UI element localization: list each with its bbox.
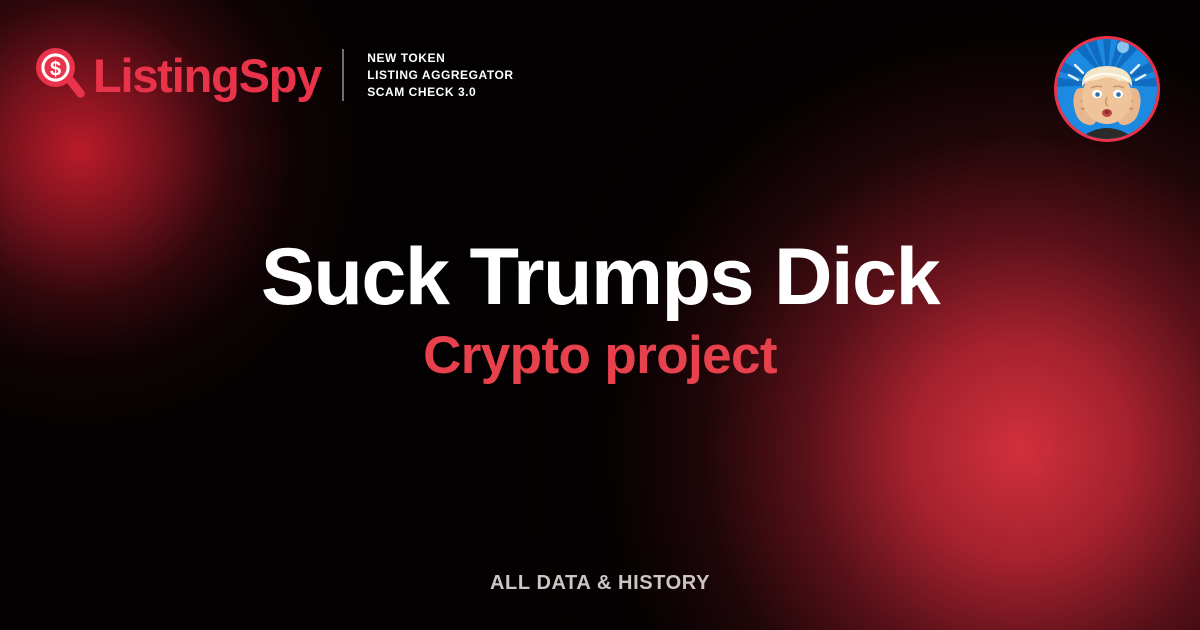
hero-section: Suck Trumps Dick Crypto project bbox=[0, 236, 1200, 384]
brand-logo[interactable]: $ ListingSpy bbox=[36, 48, 321, 102]
tagline-line-3: SCAM CHECK 3.0 bbox=[367, 85, 513, 99]
avatar[interactable] bbox=[1054, 36, 1160, 142]
svg-text:$: $ bbox=[50, 58, 61, 80]
header: $ ListingSpy NEW TOKEN LISTING AGGREGATO… bbox=[36, 48, 514, 102]
magnifier-dollar-icon: $ bbox=[36, 48, 86, 102]
footer-tagline: ALL DATA & HISTORY bbox=[0, 572, 1200, 595]
social-share-card: $ ListingSpy NEW TOKEN LISTING AGGREGATO… bbox=[0, 0, 1200, 630]
tagline-line-2: LISTING AGGREGATOR bbox=[367, 68, 513, 82]
brand-tagline: NEW TOKEN LISTING AGGREGATOR SCAM CHECK … bbox=[367, 51, 513, 99]
trump-cartoon-avatar-icon bbox=[1057, 39, 1157, 139]
brand-wordmark: ListingSpy bbox=[93, 52, 321, 99]
header-divider bbox=[342, 49, 344, 101]
tagline-line-1: NEW TOKEN bbox=[367, 51, 513, 65]
page-subtitle: Crypto project bbox=[0, 328, 1200, 384]
page-title: Suck Trumps Dick bbox=[0, 236, 1200, 319]
